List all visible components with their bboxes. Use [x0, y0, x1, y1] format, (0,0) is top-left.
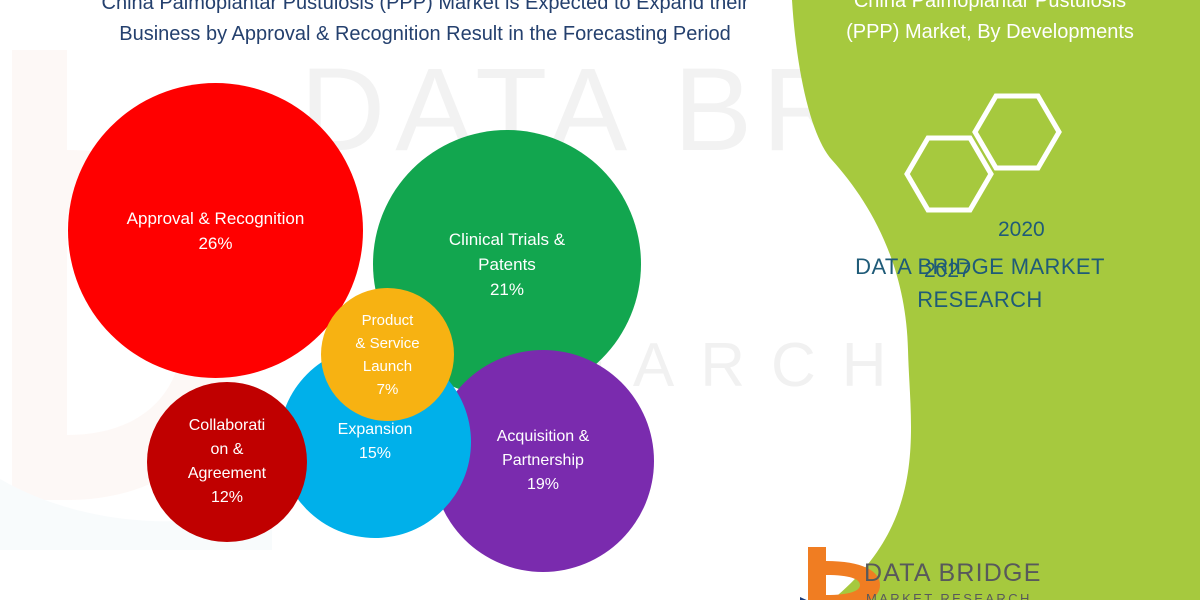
infographic-canvas: DATA BRIDGE RESEARCH China Palmoplantar … — [0, 0, 1200, 600]
bubble-label-clinical-trials-line-1: Clinical Trials & — [449, 227, 565, 252]
bubble-value-approval-recognition: 26% — [127, 231, 305, 256]
bubble-label-acquisition-line-2: Partnership — [497, 449, 590, 473]
bubble-label-expansion: Expansion — [338, 418, 413, 442]
bubble-collaboration-agreement[interactable]: Collaborati on & Agreement 12% — [147, 382, 307, 542]
bubble-label-product-line-1: Product — [355, 309, 419, 332]
bubble-chart: Approval & Recognition 26% Clinical Tria… — [0, 0, 800, 600]
right-panel: China Palmoplantar Pustulosis (PPP) Mark… — [760, 0, 1200, 600]
logo-wordmark-line-2: MARKET RESEARCH — [866, 591, 1032, 600]
bubble-value-expansion: 15% — [338, 442, 413, 466]
company-logo[interactable]: DATA BRIDGE MARKET RESEARCH — [800, 545, 1130, 600]
bubble-value-clinical-trials-patents: 21% — [449, 277, 565, 302]
bubble-value-collaboration-agreement: 12% — [188, 486, 266, 510]
bubble-label-clinical-trials-line-2: Patents — [449, 252, 565, 277]
brand-name: DATA BRIDGE MARKET RESEARCH — [790, 250, 1170, 316]
panel-title: China Palmoplantar Pustulosis (PPP) Mark… — [800, 0, 1180, 48]
hexagon-2020-label: 2020 — [998, 218, 1045, 242]
bubble-label-collaboration-line-3: Agreement — [188, 462, 266, 486]
hexagon-group: 2020 2027 — [898, 92, 1078, 222]
logo-wordmark-line-1: DATA BRIDGE — [864, 559, 1042, 587]
bubble-label-acquisition-line-1: Acquisition & — [497, 425, 590, 449]
hexagon-outlines-icon — [898, 92, 1078, 222]
bubble-label-product-line-3: Launch — [355, 355, 419, 378]
hexagon-2020-shape — [975, 96, 1059, 168]
bubble-label-collaboration-line-1: Collaborati — [188, 414, 266, 438]
panel-title-line-2: (PPP) Market, By Developments — [800, 17, 1180, 48]
bubble-value-product-service-launch: 7% — [355, 378, 419, 401]
brand-line-2: RESEARCH — [790, 283, 1170, 316]
bubble-approval-recognition[interactable]: Approval & Recognition 26% — [68, 83, 363, 378]
bubble-product-service-launch[interactable]: Product & Service Launch 7% — [321, 288, 454, 421]
bubble-label-approval-recognition: Approval & Recognition — [127, 206, 305, 231]
bubble-value-acquisition-partnership: 19% — [497, 473, 590, 497]
panel-title-line-1: China Palmoplantar Pustulosis — [800, 0, 1180, 17]
bubble-label-product-line-2: & Service — [355, 332, 419, 355]
bubble-label-collaboration-line-2: on & — [188, 438, 266, 462]
hexagon-2027-shape — [907, 138, 991, 210]
brand-line-1: DATA BRIDGE MARKET — [790, 250, 1170, 283]
